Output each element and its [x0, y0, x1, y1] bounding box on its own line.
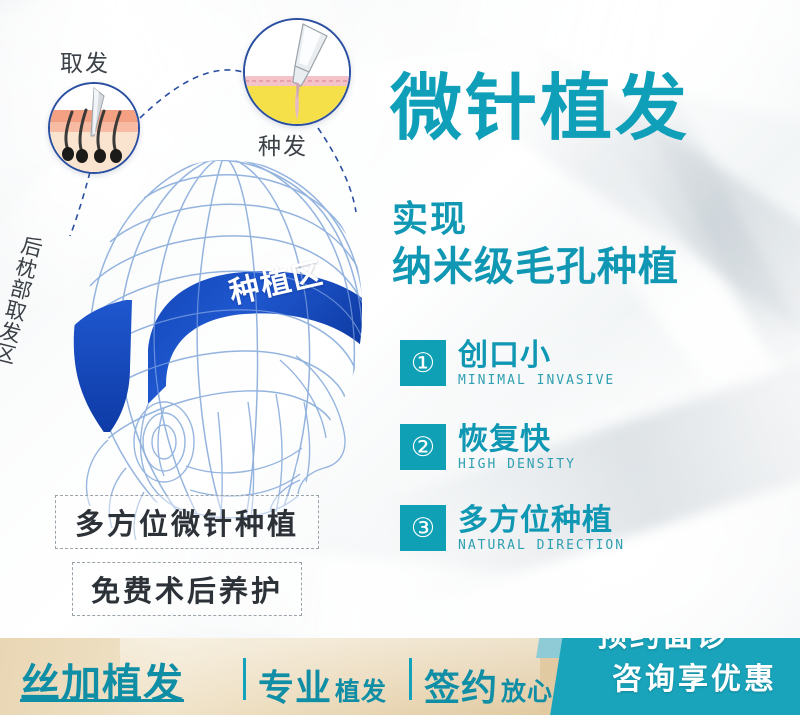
tagline-sub: 放心	[501, 672, 553, 708]
extract-illustration-circle	[48, 82, 140, 174]
feature-item-2: ② 恢复快 HIGH DENSITY	[400, 424, 576, 472]
cta-line-1[interactable]: 预约面诊	[597, 638, 729, 655]
tagline-sub: 植发	[335, 672, 387, 708]
poster-root: 种植区 后枕部取发区 取发	[0, 0, 800, 715]
feature-title: 创口小	[458, 340, 615, 372]
brand-logo-text: 丝加植发	[20, 651, 184, 709]
promise-box-1: 多方位微针种植	[55, 495, 319, 549]
feature-number-badge: ③	[400, 505, 446, 551]
tagline-main: 签约	[424, 659, 498, 711]
feature-number-badge: ①	[400, 340, 446, 386]
feature-item-1: ① 创口小 MINIMAL INVASIVE	[400, 340, 615, 388]
feature-subtitle: HIGH DENSITY	[458, 457, 576, 472]
extract-caption: 取发	[60, 44, 110, 78]
feature-subtitle: MINIMAL INVASIVE	[458, 373, 615, 388]
subheadline-line-2: 纳米级毛孔种植	[392, 234, 679, 292]
promise-box-2: 免费术后养护	[72, 562, 302, 616]
wireframe-head-icon	[48, 150, 408, 540]
feature-number-badge: ②	[400, 424, 446, 470]
implant-illustration-circle	[243, 18, 351, 126]
implant-caption: 种发	[258, 127, 308, 161]
feature-title: 多方位种植	[458, 505, 625, 537]
footer-divider	[243, 658, 246, 700]
footer-bar: 丝加植发 专业 植发 签约 放心 预约面诊 咨询享优惠	[0, 638, 800, 715]
feature-title: 恢复快	[458, 424, 576, 456]
feature-item-3: ③ 多方位种植 NATURAL DIRECTION	[400, 505, 625, 553]
cta-line-2[interactable]: 咨询享优惠	[612, 654, 777, 698]
footer-tagline-1: 专业 植发	[258, 659, 387, 711]
page-title: 微针植发	[390, 73, 690, 145]
tagline-main: 专业	[258, 659, 332, 711]
feature-subtitle: NATURAL DIRECTION	[458, 538, 625, 553]
footer-divider	[409, 658, 412, 700]
footer-tagline-2: 签约 放心	[424, 659, 553, 711]
